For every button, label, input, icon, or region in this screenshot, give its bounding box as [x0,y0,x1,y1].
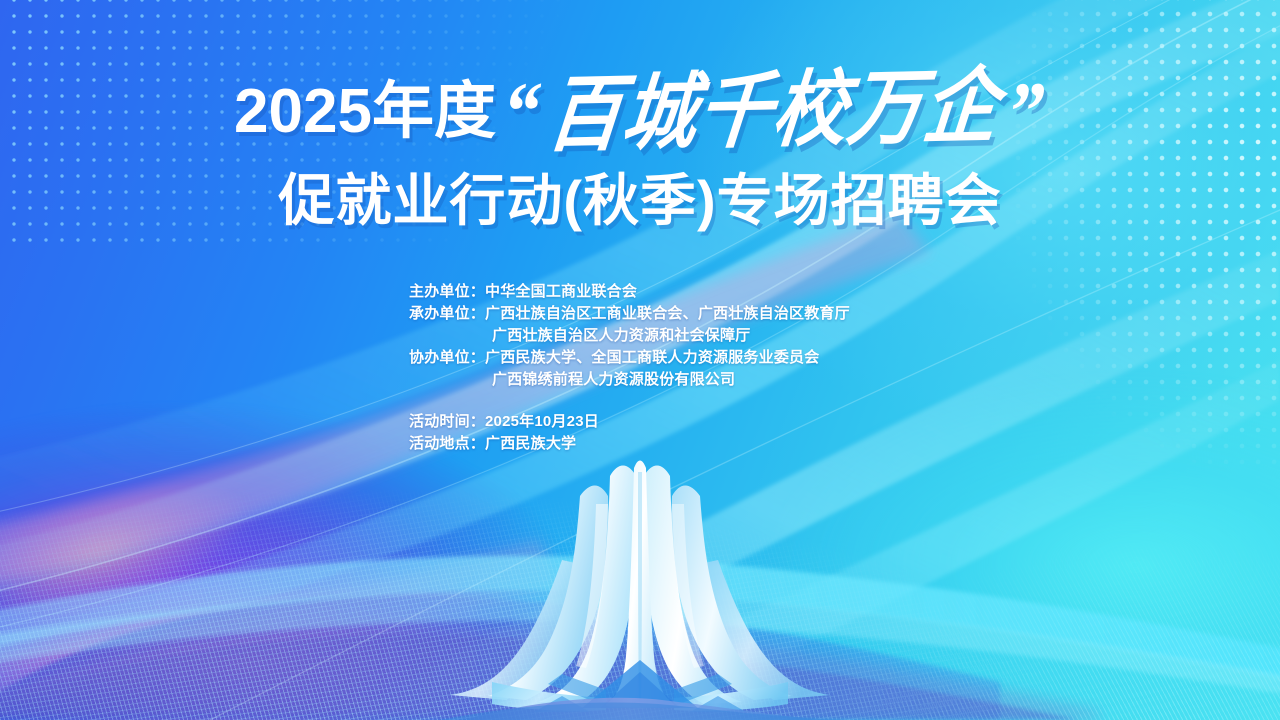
poster-title-block: 2025年度 “ 百城千校万企 ” 促就业行动(秋季)专场招聘会 [0,62,1280,234]
organizer-row: 承办单位： 广西壮族自治区工商业联合会、广西壮族自治区教育厅 [409,303,969,325]
details-spacer [409,391,969,411]
coorganizer-row: 协办单位： 广西民族大学、全国工商联人力资源服务业委员会 [409,347,969,369]
event-time-label: 活动时间： [409,411,485,433]
organizer-value-line-1: 广西壮族自治区工商业联合会、广西壮族自治区教育厅 [485,303,850,325]
organizer-label: 承办单位： [409,303,485,325]
guangxi-drum-tower-monument-icon [430,460,850,720]
title-subtitle: 促就业行动(秋季)专场招聘会 [0,168,1280,234]
title-close-quote: ” [1000,70,1051,154]
coorganizer-value-line-2: 广西锦绣前程人力资源股份有限公司 [492,369,735,391]
event-poster: 2025年度 “ 百城千校万企 ” 促就业行动(秋季)专场招聘会 主办单位： 中… [0,0,1280,720]
event-details-block: 主办单位： 中华全国工商业联合会 承办单位： 广西壮族自治区工商业联合会、广西壮… [409,281,969,455]
title-brand-calligraphy: 百城千校万企 [541,66,1005,158]
title-year: 2025年度 [234,81,496,143]
coorganizer-row-continued: 广西锦绣前程人力资源股份有限公司 [409,369,969,391]
host-label: 主办单位： [409,281,485,303]
organizer-row-continued: 广西壮族自治区人力资源和社会保障厅 [409,325,969,347]
event-place-row: 活动地点： 广西民族大学 [409,433,969,455]
host-row: 主办单位： 中华全国工商业联合会 [409,281,969,303]
title-line-primary: 2025年度 “ 百城千校万企 ” [0,62,1280,162]
organizer-value-line-2: 广西壮族自治区人力资源和社会保障厅 [492,325,750,347]
host-value: 中华全国工商业联合会 [485,281,637,303]
coorganizer-label: 协办单位： [409,347,485,369]
event-place-label: 活动地点： [409,433,485,455]
event-time-row: 活动时间： 2025年10月23日 [409,411,969,433]
event-time-value: 2025年10月23日 [485,411,599,433]
title-open-quote: “ [496,70,547,154]
event-place-value: 广西民族大学 [485,433,576,455]
coorganizer-value-line-1: 广西民族大学、全国工商联人力资源服务业委员会 [485,347,819,369]
